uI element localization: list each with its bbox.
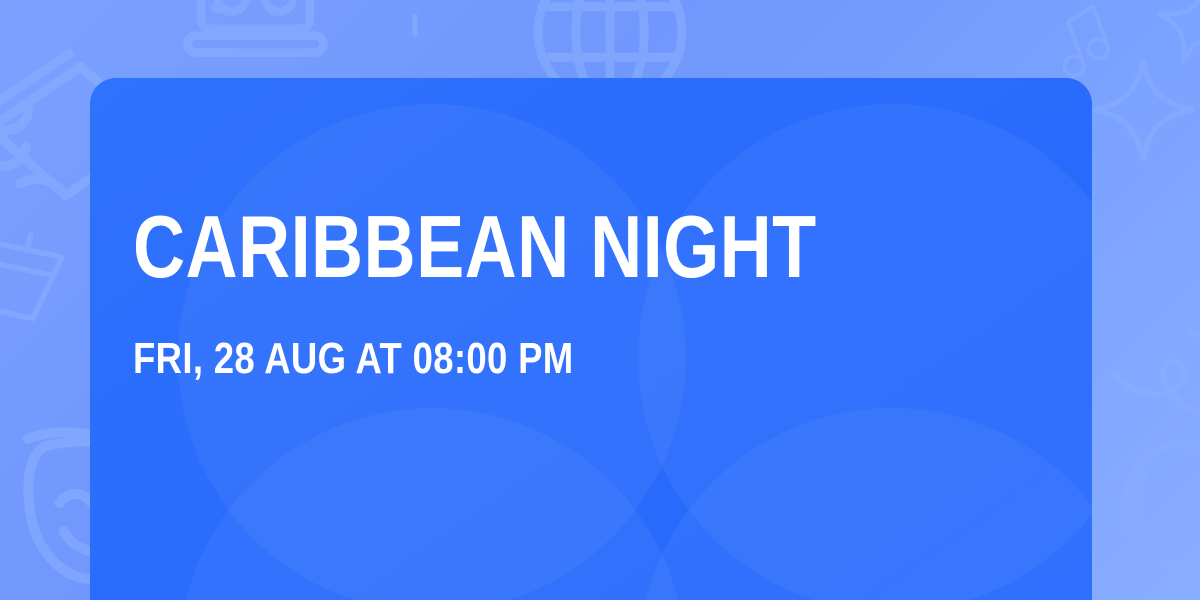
decorative-circle <box>178 408 686 600</box>
balloon-icon <box>1104 425 1200 600</box>
confetti-icon <box>385 8 445 68</box>
event-title: CARIBBEAN NIGHT <box>133 208 887 285</box>
event-card[interactable]: CARIBBEAN NIGHT FRI, 28 AUG AT 08:00 PM <box>90 78 1092 600</box>
event-banner: CARIBBEAN NIGHT FRI, 28 AUG AT 08:00 PM <box>0 0 1200 600</box>
decorative-circle <box>638 408 1092 600</box>
sparkle-icon <box>1088 50 1198 170</box>
event-card-text: CARIBBEAN NIGHT FRI, 28 AUG AT 08:00 PM <box>133 208 1052 381</box>
event-datetime: FRI, 28 AUG AT 08:00 PM <box>133 337 896 381</box>
drink-cup-icon <box>0 215 86 345</box>
sparkle-icon <box>1138 0 1200 82</box>
streamer-swirl-icon <box>1112 330 1200 460</box>
